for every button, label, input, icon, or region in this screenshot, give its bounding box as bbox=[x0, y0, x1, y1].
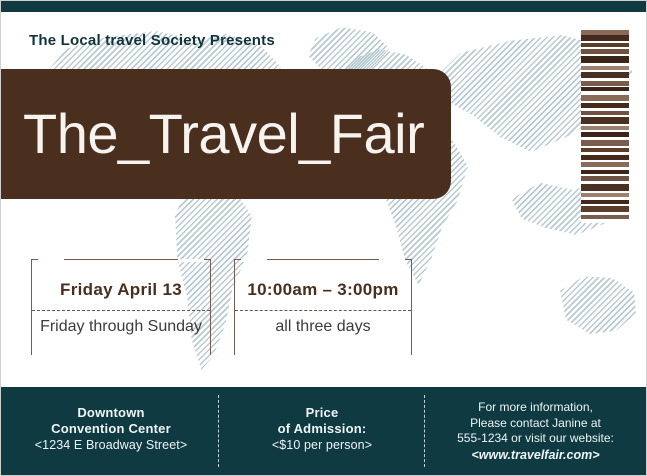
footer-divider-1 bbox=[218, 395, 219, 467]
venue-address: <1234 E Broadway Street> bbox=[11, 437, 211, 453]
event-details-row: Friday April 13 Friday through Sunday 10… bbox=[1, 259, 647, 369]
price-label-line2: of Admission: bbox=[227, 421, 417, 437]
date-info-box: Friday April 13 Friday through Sunday bbox=[31, 259, 211, 355]
top-accent-bar bbox=[1, 1, 647, 12]
event-time-note: all three days bbox=[235, 318, 411, 336]
barcode-bar bbox=[581, 56, 629, 63]
bracket-notch-left bbox=[38, 259, 64, 262]
page-title: The_Travel_Fair bbox=[0, 106, 424, 162]
contact-website[interactable]: <www.travelfair.com> bbox=[433, 447, 638, 463]
footer-divider-2 bbox=[424, 395, 425, 467]
contact-line1: For more information, bbox=[433, 400, 638, 416]
presenter-line: The Local travel Society Presents bbox=[29, 32, 275, 49]
event-date-note: Friday through Sunday bbox=[32, 318, 210, 336]
title-plate: The_Travel_Fair bbox=[0, 69, 451, 199]
footer-venue-block: Downtown Convention Center <1234 E Broad… bbox=[11, 387, 211, 453]
footer-contact-block: For more information, Please contact Jan… bbox=[433, 387, 638, 463]
event-ticket: The Local travel Society Presents The_Tr… bbox=[0, 0, 647, 476]
contact-line3: 555-1234 or visit our website: bbox=[433, 431, 638, 447]
event-date: Friday April 13 bbox=[32, 280, 210, 300]
venue-name-line2: Convention Center bbox=[11, 421, 211, 437]
event-time: 10:00am – 3:00pm bbox=[235, 280, 411, 300]
bracket-notch-right bbox=[178, 259, 204, 262]
venue-name-line1: Downtown bbox=[11, 405, 211, 421]
time-divider bbox=[235, 310, 411, 311]
price-label-line1: Price bbox=[227, 405, 417, 421]
barcode-bar bbox=[581, 184, 629, 191]
time-info-box: 10:00am – 3:00pm all three days bbox=[234, 259, 412, 355]
price-value: <$10 per person> bbox=[227, 437, 417, 453]
barcode-icon bbox=[581, 27, 629, 223]
footer-price-block: Price of Admission: <$10 per person> bbox=[227, 387, 417, 453]
bracket-notch-left bbox=[241, 259, 267, 262]
footer-bar: Downtown Convention Center <1234 E Broad… bbox=[1, 387, 647, 475]
bracket-notch-right bbox=[379, 259, 405, 262]
date-divider bbox=[32, 310, 210, 311]
contact-line2: Please contact Janine at bbox=[433, 416, 638, 432]
barcode-bar bbox=[581, 219, 629, 223]
barcode-bar bbox=[581, 117, 629, 124]
